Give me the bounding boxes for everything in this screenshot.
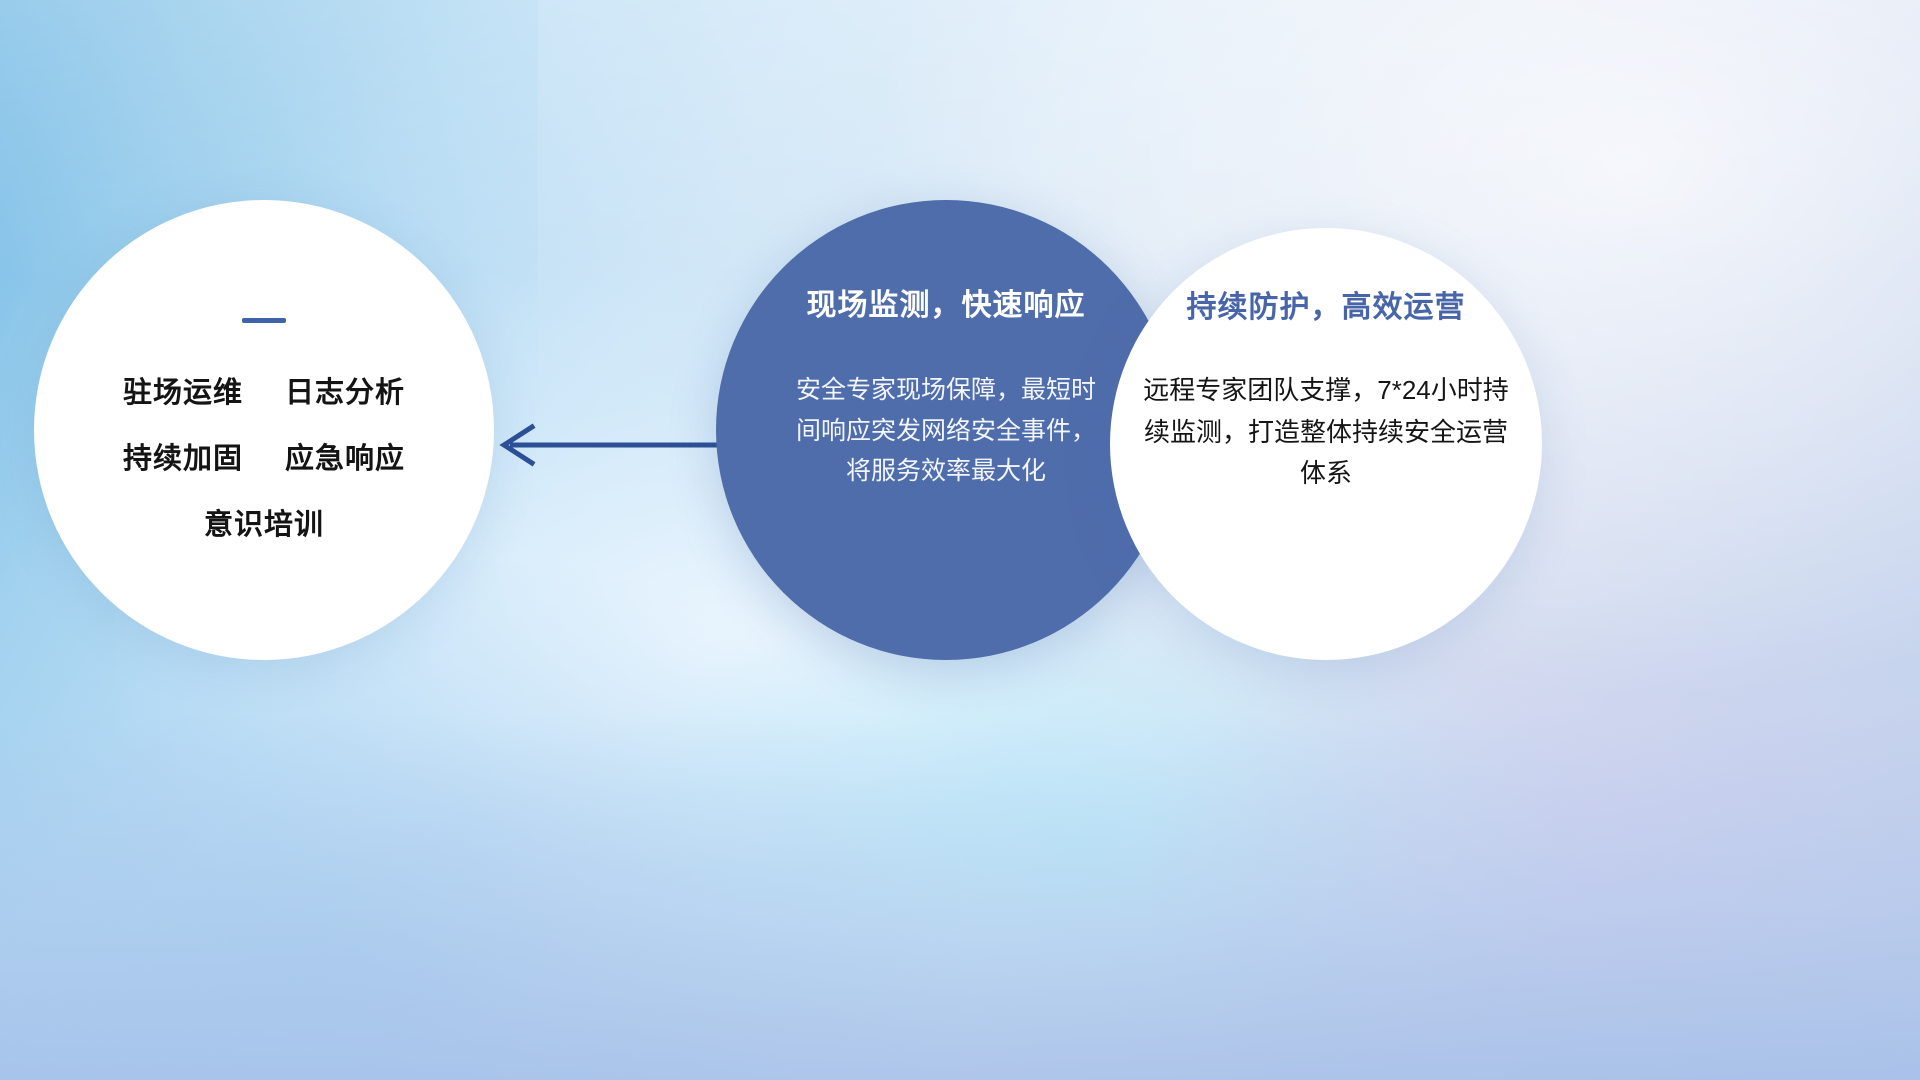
capability-item: 日志分析: [285, 369, 405, 411]
right-card-title: 持续防护，高效运营: [1187, 290, 1466, 326]
divider-dash: [242, 318, 286, 323]
middle-card-body: 安全专家现场保障，最短时间响应突发网络安全事件，将服务效率最大化: [787, 370, 1105, 492]
right-card-body: 远程专家团队支撑，7*24小时持续监测，打造整体持续安全运营体系: [1140, 370, 1512, 495]
background-bottom-fade: [0, 713, 1920, 1080]
capability-row: 持续加固 应急响应: [123, 435, 405, 477]
capability-item: 持续加固: [123, 435, 243, 477]
left-capability-circle: 驻场运维 日志分析 持续加固 应急响应 意识培训: [34, 200, 494, 660]
middle-card-title: 现场监测，快速响应: [807, 288, 1086, 324]
capability-row: 驻场运维 日志分析: [123, 369, 405, 411]
capability-list: 驻场运维 日志分析 持续加固 应急响应 意识培训: [123, 369, 405, 543]
slide-canvas: 驻场运维 日志分析 持续加固 应急响应 意识培训 现场监测，快速响应 安全专家现…: [0, 0, 1920, 1080]
arrow-left-icon: [488, 420, 728, 470]
capability-row: 意识培训: [204, 501, 324, 543]
capability-item: 意识培训: [204, 501, 324, 543]
capability-item: 应急响应: [285, 435, 405, 477]
capability-item: 驻场运维: [123, 369, 243, 411]
right-service-circle: 持续防护，高效运营 远程专家团队支撑，7*24小时持续监测，打造整体持续安全运营…: [1110, 228, 1542, 660]
middle-service-circle: 现场监测，快速响应 安全专家现场保障，最短时间响应突发网络安全事件，将服务效率最…: [716, 200, 1176, 660]
